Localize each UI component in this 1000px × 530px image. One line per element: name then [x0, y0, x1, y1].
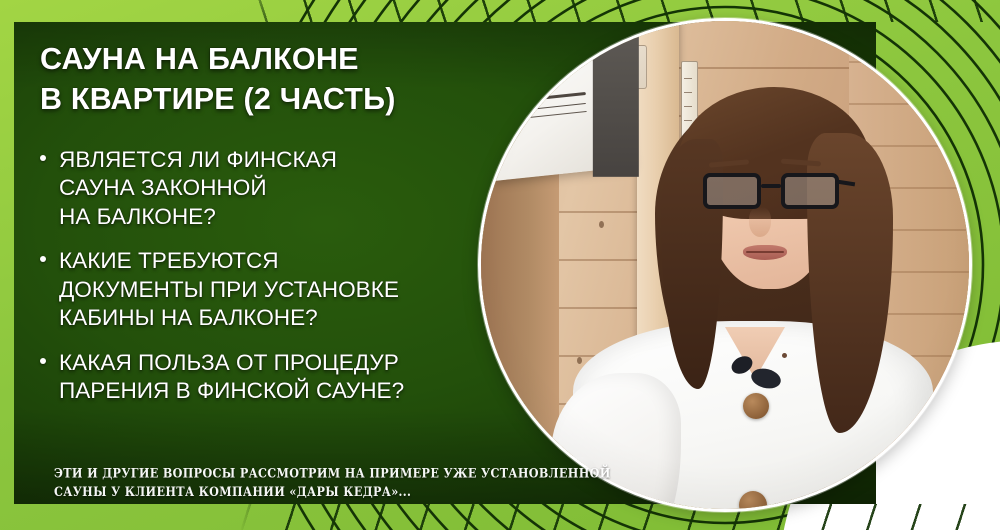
- list-item: ЯВЛЯЕТСЯ ЛИ ФИНСКАЯ САУНА ЗАКОННОЙ НА БА…: [40, 146, 560, 231]
- footnote: ЭТИ И ДРУГИЕ ВОПРОСЫ РАССМОТРИМ НА ПРИМЕ…: [54, 464, 614, 502]
- page-title: САУНА НА БАЛКОНЕ В КВАРТИРЕ (2 ЧАСТЬ): [40, 40, 560, 120]
- bullet-dot-icon: [40, 256, 46, 262]
- footnote-line-1: ЭТИ И ДРУГИЕ ВОПРОСЫ РАССМОТРИМ НА ПРИМЕ…: [54, 464, 614, 483]
- bullet-1-line-3: НА БАЛКОНЕ?: [59, 203, 560, 231]
- bullet-2-line-2: ДОКУМЕНТЫ ПРИ УСТАНОВКЕ: [59, 276, 560, 304]
- bullet-3-line-1: КАКАЯ ПОЛЬЗА ОТ ПРОЦЕДУР: [59, 349, 560, 377]
- list-item: КАКИЕ ТРЕБУЮТСЯ ДОКУМЕНТЫ ПРИ УСТАНОВКЕ …: [40, 247, 560, 332]
- text-content: САУНА НА БАЛКОНЕ В КВАРТИРЕ (2 ЧАСТЬ) ЯВ…: [40, 40, 560, 422]
- top-stripe-band: [0, 0, 1000, 22]
- footnote-line-2: САУНЫ У КЛИЕНТА КОМПАНИИ «ДАРЫ КЕДРА»...: [54, 483, 614, 502]
- bullet-2-line-3: КАБИНЫ НА БАЛКОНЕ?: [59, 304, 560, 332]
- bullet-dot-icon: [40, 155, 46, 161]
- list-item: КАКАЯ ПОЛЬЗА ОТ ПРОЦЕДУР ПАРЕНИЯ В ФИНСК…: [40, 349, 560, 406]
- bullet-3-line-2: ПАРЕНИЯ В ФИНСКОЙ САУНЕ?: [59, 377, 560, 405]
- title-line-1: САУНА НА БАЛКОНЕ: [40, 40, 560, 80]
- bullet-dot-icon: [40, 358, 46, 364]
- bullet-1-line-1: ЯВЛЯЕТСЯ ЛИ ФИНСКАЯ: [59, 146, 560, 174]
- question-list: ЯВЛЯЕТСЯ ЛИ ФИНСКАЯ САУНА ЗАКОННОЙ НА БА…: [40, 146, 560, 406]
- bullet-2-line-1: КАКИЕ ТРЕБУЮТСЯ: [59, 247, 560, 275]
- bullet-1-line-2: САУНА ЗАКОННОЙ: [59, 174, 560, 202]
- title-line-2: В КВАРТИРЕ (2 ЧАСТЬ): [40, 80, 560, 120]
- promo-slide: САУНА НА БАЛКОНЕ В КВАРТИРЕ (2 ЧАСТЬ) ЯВ…: [0, 0, 1000, 530]
